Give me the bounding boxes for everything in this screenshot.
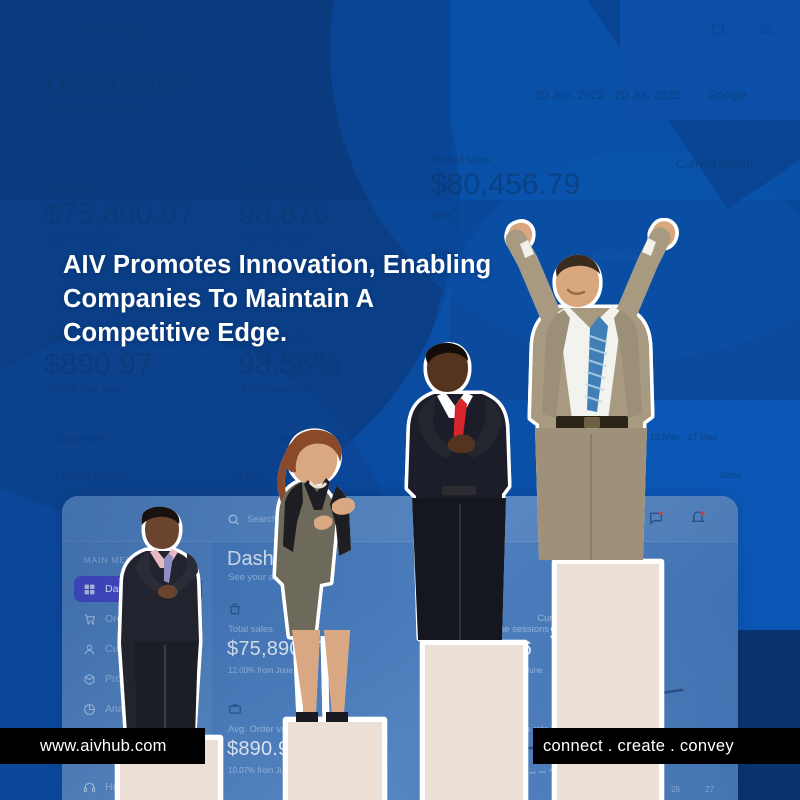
ghost-stat-label-0: Total sales xyxy=(46,182,93,193)
ghost-chat-icon xyxy=(710,22,726,38)
ghost-stat-value-1: 98,876 xyxy=(238,198,330,232)
ghost-dashboard-title: Dashboard xyxy=(46,68,180,99)
ghost-date-range-top: 20 Jun. 2022 - 20 Jul. 2022 xyxy=(535,88,680,102)
headline-line-3: Competitive Edge. xyxy=(63,317,533,351)
headline-line-2: Companies To Maintain A xyxy=(63,283,533,317)
ghost-bell-icon xyxy=(758,22,774,38)
ghost-period-filter: Current month xyxy=(676,157,753,171)
ghost-stat-delta-1: 5.50% from June xyxy=(241,234,309,244)
bag-icon xyxy=(228,602,242,616)
tagline-banner: connect . create . convey xyxy=(533,728,800,764)
cart-icon xyxy=(83,613,96,626)
ghost-overall-sales-value: $80,456.79 xyxy=(430,168,580,202)
chart-x-label-27: 27 xyxy=(705,785,714,794)
ghost-stat-value-0: $75,890.97 xyxy=(44,198,194,232)
box-icon xyxy=(83,673,96,686)
ghost-search-placeholder: Search or type co xyxy=(76,26,147,36)
bell-icon[interactable] xyxy=(690,510,706,526)
ghost-stat-label-1: Online sessions xyxy=(240,182,311,193)
ghost-country-value: 60.45% xyxy=(232,472,263,482)
podium-block-3rd xyxy=(283,717,387,800)
search-icon xyxy=(227,513,240,526)
pie-icon xyxy=(83,703,96,716)
headline-line-1: AIV Promotes Innovation, Enabling xyxy=(63,249,533,283)
headset-icon xyxy=(83,781,96,794)
ghost-stat-value-2: $890.97 xyxy=(44,348,152,382)
ghost-stat-value-3: 98.56% xyxy=(238,348,340,382)
ghost-overall-sales-label: Overall sales xyxy=(432,155,490,166)
ghost-store-label: Store xyxy=(720,470,742,480)
ghost-monitor-icon xyxy=(240,156,256,172)
ghost-stat-delta-3: 3.80% from June xyxy=(241,384,309,394)
figure-clapping-man-pinstripe xyxy=(110,505,226,741)
ghost-country-row: United States xyxy=(56,468,128,482)
ghost-countries-header: Countries xyxy=(56,432,107,446)
figure-clapping-woman xyxy=(262,424,384,724)
ghost-dashboard-subtitle: See your analytic data xyxy=(47,104,136,114)
ghost-search-icon xyxy=(55,22,70,37)
ghost-y-axis-90k: $90k xyxy=(432,210,452,220)
ghost-bag-icon xyxy=(46,156,62,172)
ghost-stat-delta-2: 10.07% from June xyxy=(47,384,120,394)
ghost-source-filter: Google xyxy=(708,88,747,102)
page-title: AIV Promotes Innovation, Enabling Compan… xyxy=(63,249,533,351)
bg-block-topright xyxy=(620,0,800,120)
website-banner[interactable]: www.aivhub.com xyxy=(0,728,205,764)
podium-block-2nd xyxy=(420,640,528,800)
promo-graphic: Dashboard See your analytic data Search … xyxy=(0,0,800,800)
grid-icon xyxy=(83,583,96,596)
chart-x-label-26: 26 xyxy=(671,785,680,794)
briefcase-icon xyxy=(228,702,242,716)
user-icon xyxy=(83,643,96,656)
ghost-stat-delta-0: 12.00% from June xyxy=(47,234,120,244)
